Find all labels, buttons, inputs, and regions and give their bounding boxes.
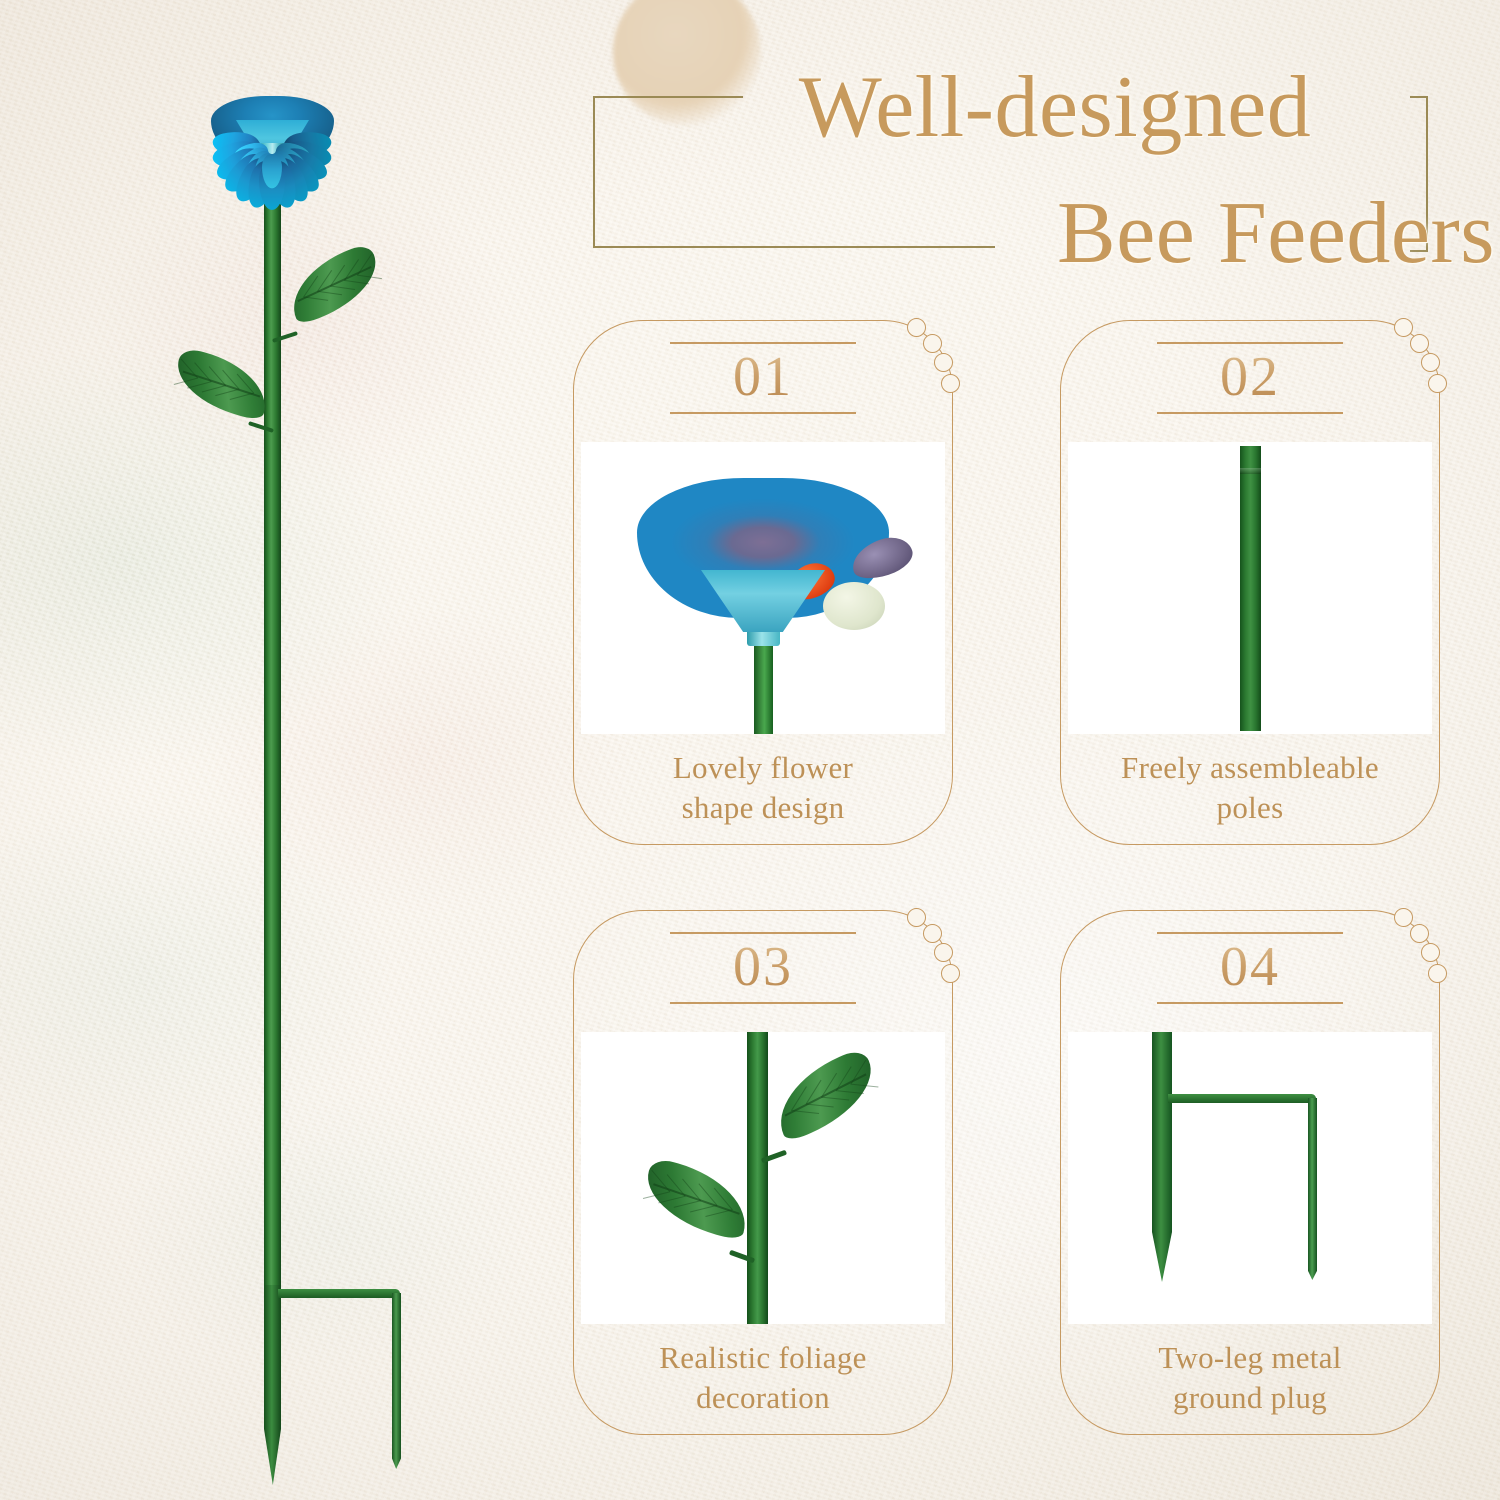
rule-bottom (670, 412, 856, 414)
leaf-right (764, 1047, 886, 1144)
card-photo-panel (581, 1032, 945, 1324)
leaf-vein (344, 280, 369, 285)
caption-line-1: Lovely flower (573, 748, 953, 788)
leaf-vein (791, 1110, 819, 1114)
card-number: 01 (670, 344, 856, 413)
ground-stake-second-leg (392, 1293, 401, 1469)
leaf-vein (851, 1060, 867, 1084)
leaf-vein (188, 381, 212, 389)
leaf-vein (851, 1084, 879, 1088)
pole-segment (1240, 446, 1261, 731)
bead-circle-icon (1394, 318, 1413, 337)
feature-card-03[interactable]: 03 Realistic foliage decoration (573, 910, 953, 1435)
headline-line-2: Bee Feeders (605, 190, 1500, 278)
card-caption: Freely assembleable poles (1060, 748, 1440, 827)
bead-circle-icon (1421, 943, 1440, 962)
headline-line-1: Well-designed (605, 64, 1500, 152)
card-photo-panel (1068, 1032, 1432, 1324)
stone-white (823, 582, 885, 630)
bead-circle-icon (907, 908, 926, 927)
flower-dish-icon (581, 442, 945, 734)
card-caption: Realistic foliage decoration (573, 1338, 953, 1417)
card-number-block: 02 (1157, 342, 1343, 414)
leaf-left (169, 346, 275, 421)
caption-line-1: Realistic foliage (573, 1338, 953, 1378)
leaf-vein (181, 359, 198, 379)
bead-circle-icon (934, 353, 953, 372)
card-photo-panel (1068, 442, 1432, 734)
card-caption: Two-leg metal ground plug (1060, 1338, 1440, 1417)
bead-circle-icon (1394, 908, 1413, 927)
bead-decoration (1328, 314, 1448, 434)
card-number: 02 (1157, 344, 1343, 413)
bead-circle-icon (1410, 924, 1429, 943)
headline-block: Well-designed Bee Feeders (575, 30, 1475, 292)
card-caption: Lovely flower shape design (573, 748, 953, 827)
card-number-block: 04 (1157, 932, 1343, 1004)
bead-circle-icon (923, 924, 942, 943)
feature-card-02[interactable]: 02 Freely assembleable poles (1060, 320, 1440, 845)
bracket-left-side (593, 96, 595, 248)
bead-circle-icon (934, 943, 953, 962)
leaf-vein (836, 1066, 852, 1090)
bead-circle-icon (941, 374, 960, 393)
leaf-vein (344, 259, 359, 280)
caption-line-1: Two-leg metal (1060, 1338, 1440, 1378)
caption-line-2: ground plug (1060, 1378, 1440, 1418)
bead-circle-icon (923, 334, 942, 353)
leaf-vein (806, 1103, 834, 1107)
pole-segment (747, 1032, 768, 1324)
bead-circle-icon (1428, 374, 1447, 393)
card-photo-panel (581, 442, 945, 734)
leaf-vein (202, 385, 226, 393)
rule-bottom (1157, 412, 1343, 414)
card-number: 04 (1157, 934, 1343, 1003)
leaf-vein (658, 1196, 686, 1204)
ground-stake-second-leg (1308, 1098, 1317, 1280)
pole-joint (1240, 468, 1261, 474)
ground-stake-crossbar (1168, 1094, 1316, 1103)
rule-bottom (1157, 1002, 1343, 1004)
leaf-left (637, 1156, 757, 1242)
bead-circle-icon (907, 318, 926, 337)
ground-stake-main-leg (264, 1285, 281, 1485)
feature-card-04[interactable]: 04 Two-leg metal ground plug (1060, 910, 1440, 1435)
feature-card-grid: 01 Lovely flower shape design (560, 320, 1490, 1480)
ground-stake-main-leg (1152, 1032, 1172, 1282)
bead-circle-icon (1421, 353, 1440, 372)
caption-line-1: Freely assembleable (1060, 748, 1440, 788)
leaf-vein (643, 1191, 671, 1199)
leaf-vein (317, 291, 342, 296)
leaf-vein (229, 392, 253, 400)
card-number-block: 03 (670, 932, 856, 1004)
leaf-right (280, 242, 388, 326)
leaf-vein (689, 1205, 717, 1213)
bead-circle-icon (941, 964, 960, 983)
hero-product-image (0, 0, 560, 1500)
leaf-vein (357, 275, 382, 280)
caption-line-2: shape design (573, 788, 953, 828)
rule-bottom (670, 1002, 856, 1004)
leaf-vein (705, 1209, 733, 1217)
leaf-vein (836, 1090, 864, 1094)
feature-card-01[interactable]: 01 Lovely flower shape design (573, 320, 953, 845)
card-number-block: 01 (670, 342, 856, 414)
leaf-vein (821, 1097, 849, 1101)
caption-line-2: poles (1060, 788, 1440, 828)
leaf-vein (330, 285, 355, 290)
bead-decoration (841, 314, 961, 434)
stone-purple (847, 531, 917, 584)
bead-circle-icon (1410, 334, 1429, 353)
green-pole (264, 160, 281, 1290)
leaf-vein (357, 254, 372, 275)
bead-circle-icon (1428, 964, 1447, 983)
bead-decoration (1328, 904, 1448, 1024)
bead-decoration (841, 904, 961, 1024)
leaf-vein (216, 389, 240, 397)
leaf-vein (174, 378, 198, 386)
ground-stake-crossbar (278, 1289, 400, 1298)
card-number: 03 (670, 934, 856, 1003)
pole-segment (754, 638, 773, 734)
leaf-vein (674, 1200, 702, 1208)
leaf-vein (304, 296, 329, 301)
caption-line-2: decoration (573, 1378, 953, 1418)
